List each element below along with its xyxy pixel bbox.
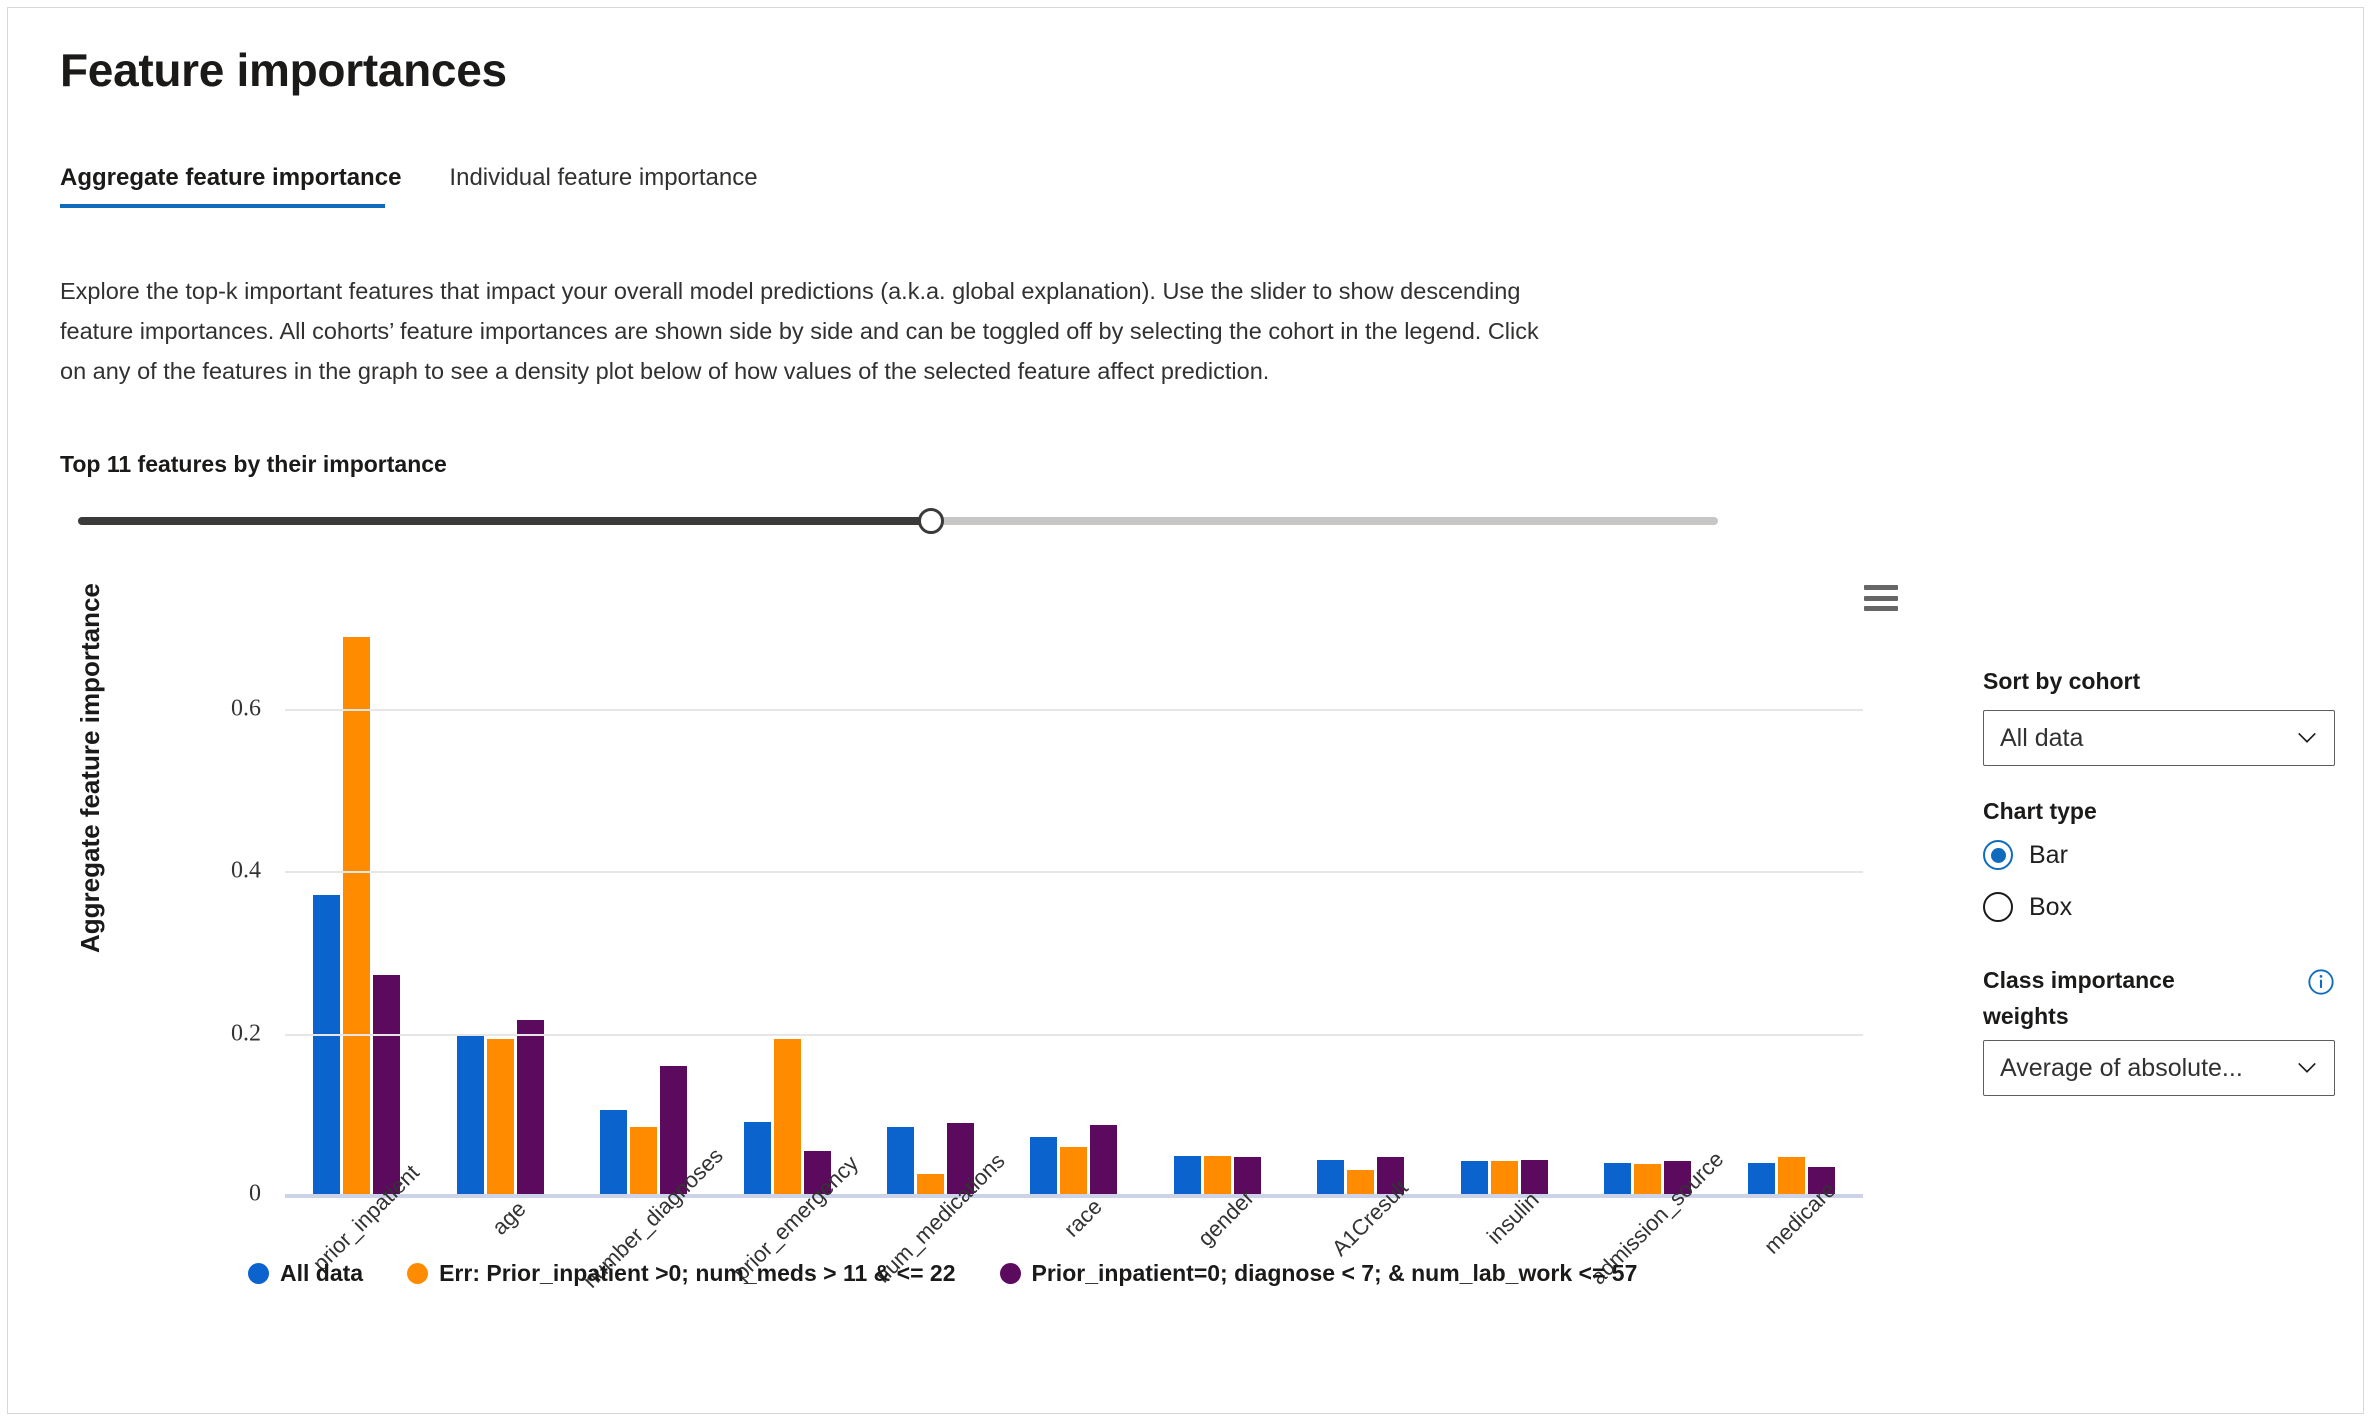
legend-item[interactable]: All data (248, 1260, 363, 1287)
slider-fill (78, 517, 931, 525)
feature-importance-chart: Aggregate feature importance 00.20.40.6 … (60, 563, 1920, 1323)
radio-box-label: Box (2029, 893, 2072, 922)
bar-group[interactable] (1289, 613, 1432, 1198)
tab-bar: Aggregate feature importance Individual … (60, 164, 774, 208)
chart-controls-panel: Sort by cohort All data Chart type Bar B… (1983, 663, 2335, 1096)
y-tick-label: 0.6 (231, 695, 261, 722)
plot-area: 00.20.40.6 (285, 613, 1863, 1198)
radio-box-indicator (1983, 892, 2013, 922)
legend-color-dot (407, 1263, 428, 1284)
bar[interactable] (1204, 1156, 1231, 1198)
sort-by-cohort-dropdown[interactable]: All data (1983, 710, 2335, 766)
chart-legend: All dataErr: Prior_inpatient >0; num_med… (248, 1260, 1657, 1287)
bar[interactable] (457, 1034, 484, 1198)
description-text: Explore the top-k important features tha… (60, 271, 1560, 391)
bar[interactable] (1060, 1147, 1087, 1198)
gridline-0.6: 0.6 (285, 709, 1863, 711)
bar[interactable] (744, 1122, 771, 1198)
legend-label: Prior_inpatient=0; diagnose < 7; & num_l… (1032, 1260, 1638, 1287)
legend-color-dot (248, 1263, 269, 1284)
radio-chart-type-box[interactable]: Box (1983, 892, 2335, 922)
y-axis-title: Aggregate feature importance (75, 583, 106, 953)
bar[interactable] (1174, 1156, 1201, 1198)
class-importance-header: Class importance weights (1983, 962, 2335, 1040)
info-circle-icon[interactable] (2307, 968, 2335, 996)
tab-individual-feature-importance[interactable]: Individual feature importance (417, 164, 773, 208)
y-tick-label: 0 (249, 1181, 261, 1208)
bar[interactable] (1748, 1163, 1775, 1198)
bar[interactable] (1030, 1137, 1057, 1198)
bar[interactable] (343, 637, 370, 1198)
bar[interactable] (1491, 1161, 1518, 1198)
bar-group[interactable] (572, 613, 715, 1198)
bar[interactable] (1778, 1157, 1805, 1198)
bar[interactable] (600, 1110, 627, 1198)
tab-aggregate-feature-importance[interactable]: Aggregate feature importance (60, 164, 417, 208)
bar-group[interactable] (1720, 613, 1863, 1198)
bar-group[interactable] (1002, 613, 1145, 1198)
class-importance-weights-dropdown[interactable]: Average of absolute... (1983, 1040, 2335, 1096)
slider-thumb[interactable] (918, 508, 944, 534)
gridline-0.4: 0.4 (285, 871, 1863, 873)
legend-color-dot (1000, 1263, 1021, 1284)
radio-chart-type-bar[interactable]: Bar (1983, 840, 2335, 870)
bar[interactable] (313, 895, 340, 1198)
bar-groups (285, 613, 1863, 1198)
bar[interactable] (887, 1127, 914, 1198)
y-tick-label: 0.2 (231, 1020, 261, 1047)
bar-group[interactable] (428, 613, 571, 1198)
sort-by-cohort-label: Sort by cohort (1983, 663, 2335, 699)
bar[interactable] (373, 975, 400, 1198)
class-importance-weights-value: Average of absolute... (2000, 1054, 2243, 1083)
y-tick-label: 0.4 (231, 858, 261, 885)
slider-label: Top 11 features by their importance (60, 451, 447, 478)
chart-type-label: Chart type (1983, 793, 2335, 829)
bar[interactable] (1634, 1164, 1661, 1198)
legend-label: Err: Prior_inpatient >0; num_meds > 11 &… (439, 1260, 955, 1287)
chevron-down-icon (2296, 727, 2318, 749)
bar-group[interactable] (715, 613, 858, 1198)
bar[interactable] (517, 1020, 544, 1198)
bar[interactable] (487, 1039, 514, 1198)
bar[interactable] (1461, 1161, 1488, 1198)
gridline-0.2: 0.2 (285, 1034, 1863, 1036)
bar-group[interactable] (859, 613, 1002, 1198)
x-axis-label[interactable]: race (1059, 1194, 1108, 1243)
bar[interactable] (1604, 1163, 1631, 1198)
bar[interactable] (630, 1127, 657, 1198)
page-frame: Feature importances Aggregate feature im… (7, 7, 2364, 1414)
gridline-0: 0 (285, 1194, 1863, 1198)
bar[interactable] (1090, 1125, 1117, 1198)
bar-group[interactable] (1433, 613, 1576, 1198)
sort-by-cohort-value: All data (2000, 724, 2083, 753)
radio-bar-indicator (1983, 840, 2013, 870)
bar-group[interactable] (1576, 613, 1719, 1198)
hamburger-menu-icon[interactable] (1864, 585, 1898, 611)
x-axis-label[interactable]: age (487, 1196, 531, 1240)
legend-item[interactable]: Err: Prior_inpatient >0; num_meds > 11 &… (407, 1260, 955, 1287)
bar[interactable] (1317, 1160, 1344, 1198)
legend-label: All data (280, 1260, 363, 1287)
radio-bar-label: Bar (2029, 841, 2068, 870)
class-importance-weights-label: Class importance weights (1983, 962, 2243, 1034)
legend-item[interactable]: Prior_inpatient=0; diagnose < 7; & num_l… (1000, 1260, 1638, 1287)
bar-group[interactable] (1146, 613, 1289, 1198)
chevron-down-icon-2 (2296, 1057, 2318, 1079)
x-label-cell: medicare (1720, 1203, 1863, 1343)
bar[interactable] (774, 1039, 801, 1198)
page-title: Feature importances (60, 43, 507, 97)
topk-slider[interactable] (78, 503, 1718, 539)
bar-group[interactable] (285, 613, 428, 1198)
